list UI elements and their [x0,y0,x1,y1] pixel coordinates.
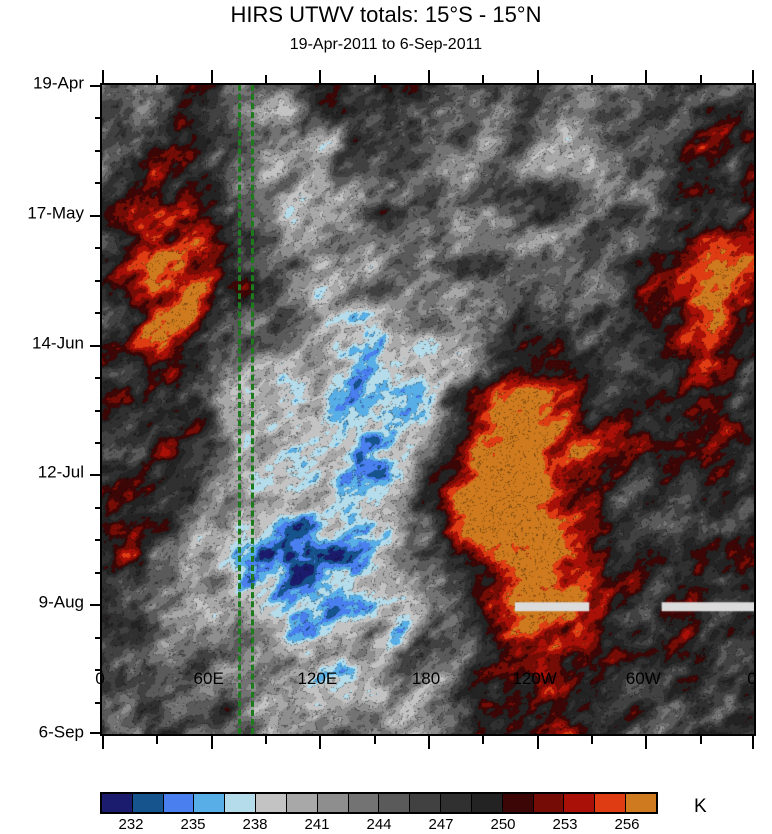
x-minor-bottom-330 [700,736,702,744]
x-minor-top-150 [374,75,376,83]
y-tick-6-Sep [90,732,102,734]
y-minor-tick [95,637,102,639]
y-tick-9-Aug [90,604,102,606]
x-tick-bottom-120E [319,736,321,749]
y-minor-tick [95,507,102,509]
colorbar-cell-17 [626,794,656,812]
x-axis-label-0: 0 [747,670,756,687]
y-minor-tick [95,247,102,249]
y-minor-tick [95,572,102,574]
colorbar-cell-5 [256,794,287,812]
hovmoller-field-canvas [102,85,754,734]
y-minor-tick [95,442,102,444]
y-axis-label-17-May: 17-May [27,204,84,221]
colorbar-cell-9 [379,794,410,812]
y-tick-19-Apr [90,85,102,87]
y-tick-12-Jul [90,474,102,476]
x-tick-top-120W [537,70,539,83]
colorbar-cell-16 [595,794,626,812]
colorbar-label-253: 253 [552,817,577,833]
colorbar-label-238: 238 [242,817,267,833]
colorbar-cell-7 [318,794,349,812]
colorbar-cell-1 [133,794,164,812]
y-axis-label-14-Jun: 14-Jun [32,334,84,351]
colorbar-cell-6 [287,794,318,812]
y-minor-tick [95,377,102,379]
page-title: HIRS UTWV totals: 15°S - 15°N [0,0,772,30]
x-axis-label-120W: 120W [512,670,556,687]
x-minor-bottom-150 [374,736,376,744]
longitude-marker-line-1 [251,85,254,734]
y-minor-tick [95,702,102,704]
x-tick-top-0 [752,70,754,83]
x-tick-bottom-120W [537,736,539,749]
x-axis-label-0: 0 [95,670,104,687]
x-tick-top-180 [428,70,430,83]
y-minor-tick [95,410,102,412]
colorbar-cell-0 [102,794,133,812]
x-minor-top-90 [265,75,267,83]
x-tick-bottom-180 [428,736,430,749]
x-tick-bottom-0 [752,736,754,749]
x-tick-bottom-60E [211,736,213,749]
x-tick-bottom-60W [645,736,647,749]
x-tick-top-60E [211,70,213,83]
colorbar-label-247: 247 [428,817,453,833]
page-subtitle: 19-Apr-2011 to 6-Sep-2011 [0,34,772,56]
colorbar-label-250: 250 [490,817,515,833]
colorbar-cell-13 [503,794,534,812]
colorbar-cell-14 [534,794,565,812]
x-axis-label-120E: 120E [297,670,337,687]
x-axis-label-180: 180 [412,670,440,687]
y-axis-label-9-Aug: 9-Aug [39,594,84,611]
x-tick-top-60W [645,70,647,83]
x-axis-label-60W: 60W [626,670,661,687]
colorbar-label-232: 232 [118,817,143,833]
x-minor-bottom-30 [156,736,158,744]
y-minor-tick [95,117,102,119]
colorbar-label-235: 235 [180,817,205,833]
colorbar-cell-11 [441,794,472,812]
x-minor-top-210 [482,75,484,83]
colorbar-label-256: 256 [614,817,639,833]
y-axis-label-12-Jul: 12-Jul [38,464,84,481]
colorbar-cell-10 [410,794,441,812]
x-minor-top-30 [156,75,158,83]
x-tick-top-0 [102,70,104,83]
x-minor-top-270 [591,75,593,83]
colorbar-cell-12 [472,794,503,812]
y-axis-label-19-Apr: 19-Apr [33,75,84,92]
y-axis-label-6-Sep: 6-Sep [39,724,84,741]
x-minor-bottom-90 [265,736,267,744]
y-minor-tick [95,280,102,282]
colorbar-cell-2 [164,794,195,812]
x-tick-bottom-0 [102,736,104,749]
y-tick-14-Jun [90,345,102,347]
x-axis-label-60E: 60E [194,670,224,687]
colorbar-label-241: 241 [304,817,329,833]
y-minor-tick [95,182,102,184]
colorbar-cell-15 [564,794,595,812]
colorbar-cell-3 [194,794,225,812]
y-minor-tick [95,312,102,314]
x-minor-bottom-210 [482,736,484,744]
colorbar-cell-8 [349,794,380,812]
colorbar-units-label: K [694,797,707,817]
x-minor-bottom-270 [591,736,593,744]
colorbar-cell-4 [225,794,256,812]
y-minor-tick [95,539,102,541]
colorbar-label-244: 244 [366,817,391,833]
y-minor-tick [95,150,102,152]
x-tick-top-120E [319,70,321,83]
x-minor-top-330 [700,75,702,83]
longitude-marker-line-0 [238,85,241,734]
hovmoller-plot-area [100,83,756,736]
colorbar[interactable] [100,792,658,814]
y-tick-17-May [90,215,102,217]
